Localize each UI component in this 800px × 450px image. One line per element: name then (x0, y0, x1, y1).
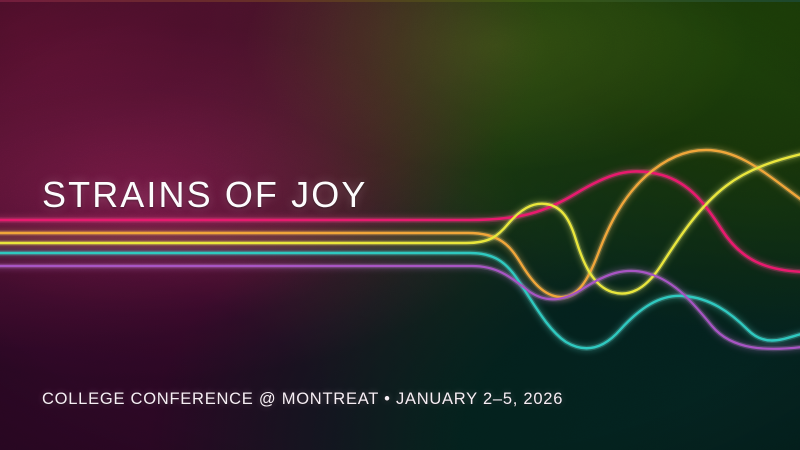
page-title: STRAINS OF JOY (42, 177, 367, 213)
orange-strand-glow (0, 150, 800, 297)
orange-strand (0, 150, 800, 297)
poster-canvas: STRAINS OF JOY COLLEGE CONFERENCE @ MONT… (0, 0, 800, 450)
purple-strand-glow (0, 266, 800, 349)
purple-strand (0, 266, 800, 349)
event-details-line: COLLEGE CONFERENCE @ MONTREAT • JANUARY … (42, 391, 563, 408)
strand-artwork (0, 0, 800, 450)
